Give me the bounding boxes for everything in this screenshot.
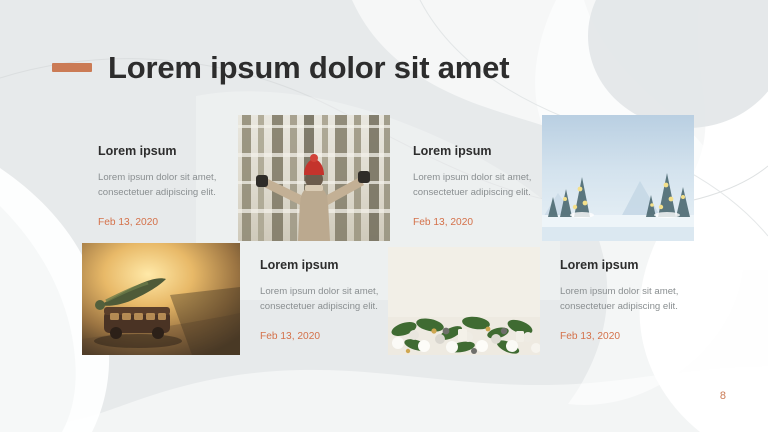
photo-winter-trees-art [542,115,694,241]
page-number: 8 [720,390,726,402]
card-2-body: Lorem ipsum dolor sit amet, consectetuer… [413,170,563,201]
card-1-date: Feb 13, 2020 [98,218,258,228]
card-1[interactable]: Lorem ipsum Lorem ipsum dolor sit amet, … [98,143,258,245]
photo-ornaments-art [388,247,540,355]
card-4-heading: Lorem ipsum [560,259,725,273]
card-4-date: Feb 13, 2020 [560,332,725,342]
page-title: Lorem ipsum dolor sit amet [108,52,509,83]
card-4[interactable]: Lorem ipsum Lorem ipsum dolor sit amet, … [560,257,725,359]
card-1-heading: Lorem ipsum [98,145,258,159]
photo-snowy-forest-art [238,115,390,241]
photo-ornaments[interactable] [388,247,540,355]
photo-van-sunset-art [82,243,240,355]
slide-title-row: Lorem ipsum dolor sit amet [52,52,509,83]
photo-van-sunset[interactable] [82,243,240,355]
photo-winter-trees[interactable] [542,115,694,241]
card-1-body: Lorem ipsum dolor sit amet, consectetuer… [98,170,248,201]
card-4-body: Lorem ipsum dolor sit amet, consectetuer… [560,284,710,315]
photo-snowy-forest[interactable] [238,115,390,241]
slide: Lorem ipsum dolor sit amet Lorem ipsum L… [0,0,768,432]
title-accent-dash [52,63,92,72]
